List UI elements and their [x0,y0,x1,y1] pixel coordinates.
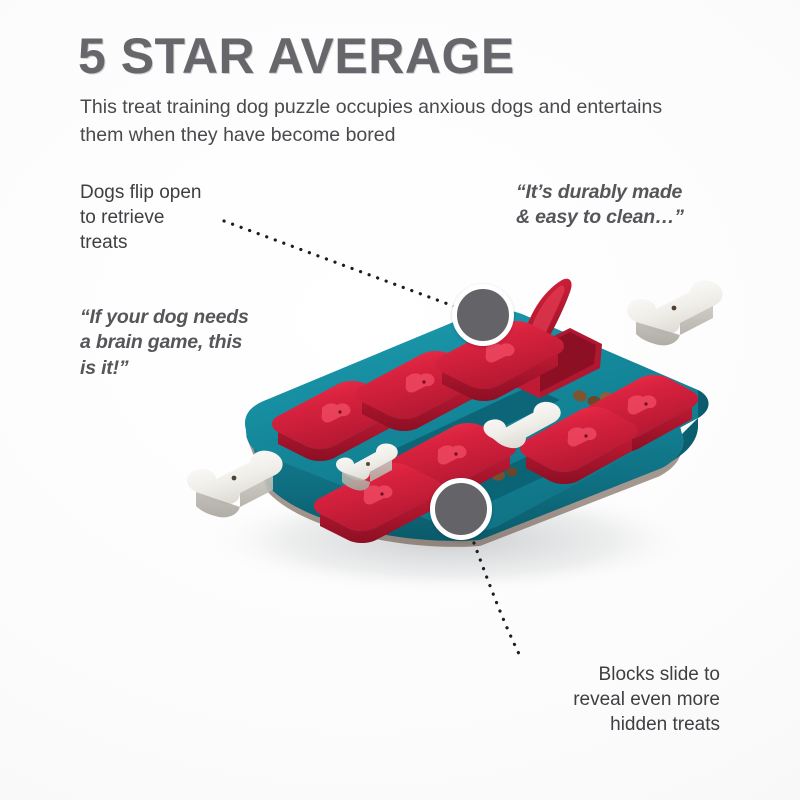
quote-line: “If your dog needs [80,305,249,330]
review-quote-durable: “It’s durably made & easy to clean…” [516,180,684,231]
infographic-page: 5 STAR AVERAGE This treat training dog p… [0,0,800,800]
annotation-line: hidden treats [470,712,720,737]
annotation-line: treats [80,230,201,255]
slide-blocks-callout-marker[interactable] [430,478,492,540]
annotation-flip-open: Dogs flip open to retrieve treats [80,180,201,255]
quote-line: “It’s durably made [516,180,684,205]
page-subtitle: This treat training dog puzzle occupies … [80,94,680,149]
flip-open-callout-marker[interactable] [452,284,514,346]
loose-bone-piece-right [627,281,723,346]
quote-line: & easy to clean…” [516,205,684,230]
page-title: 5 STAR AVERAGE [78,30,515,83]
annotation-line: reveal even more [470,687,720,712]
dog-puzzle-toy-illustration [150,240,730,600]
quote-line: is it!” [80,356,249,381]
review-quote-brain-game: “If your dog needs a brain game, this is… [80,305,249,381]
quote-line: a brain game, this [80,330,249,355]
annotation-blocks-slide: Blocks slide to reveal even more hidden … [470,662,720,737]
annotation-line: to retrieve [80,205,201,230]
annotation-line: Blocks slide to [470,662,720,687]
annotation-line: Dogs flip open [80,180,201,205]
